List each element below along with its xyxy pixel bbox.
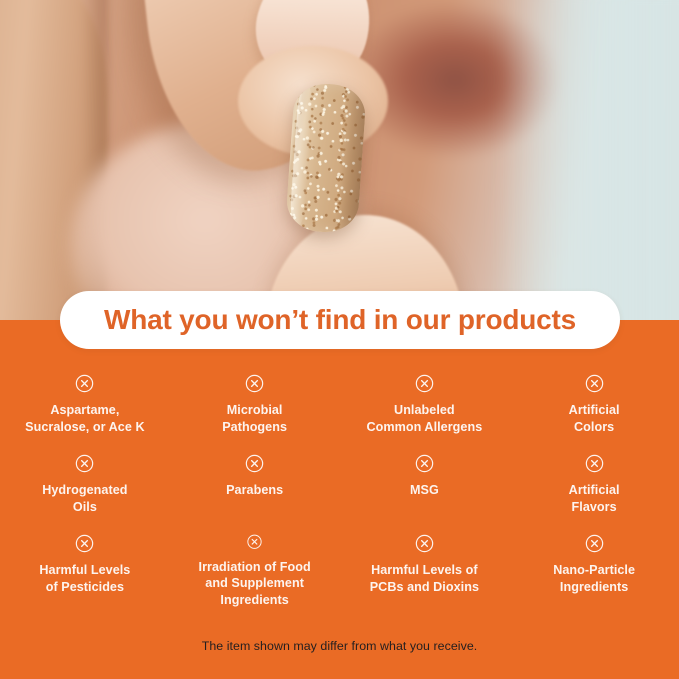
exclusion-item: Harmful Levels of Pesticides	[0, 520, 170, 608]
exclusion-label: Harmful Levels of PCBs and Dioxins	[370, 562, 479, 595]
exclusion-label: Parabens	[226, 482, 283, 499]
circle-x-icon	[245, 374, 264, 393]
circle-x-icon	[585, 534, 604, 553]
circle-x-icon	[245, 454, 264, 473]
exclusion-label: Artificial Flavors	[569, 482, 620, 515]
exclusion-item: Irradiation of Food and Supplement Ingre…	[170, 520, 340, 608]
product-infographic-page: What you won’t find in our products Aspa…	[0, 0, 679, 679]
circle-x-icon	[75, 454, 94, 473]
exclusion-item: Aspartame, Sucralose, or Ace K	[0, 360, 170, 440]
exclusion-grid: Aspartame, Sucralose, or Ace K Microbial…	[0, 360, 679, 608]
headline-banner: What you won’t find in our products	[60, 291, 620, 349]
exclusion-item: MSG	[340, 440, 510, 520]
exclusion-label: Aspartame, Sucralose, or Ace K	[25, 402, 144, 435]
exclusion-label: Microbial Pathogens	[222, 402, 287, 435]
exclusion-label: Harmful Levels of Pesticides	[39, 562, 130, 595]
page-title: What you won’t find in our products	[104, 304, 576, 336]
exclusion-item: Artificial Colors	[509, 360, 679, 440]
hero-photo	[0, 0, 679, 320]
circle-x-icon	[585, 374, 604, 393]
circle-x-icon	[415, 454, 434, 473]
exclusion-item: Unlabeled Common Allergens	[340, 360, 510, 440]
exclusion-label: Artificial Colors	[569, 402, 620, 435]
exclusion-item: Artificial Flavors	[509, 440, 679, 520]
exclusion-label: MSG	[410, 482, 439, 499]
photo-window-light	[499, 0, 679, 320]
circle-x-icon	[585, 454, 604, 473]
title-part-1: What you	[104, 304, 236, 335]
exclusion-item: Hydrogenated Oils	[0, 440, 170, 520]
title-emphasis: won’t	[236, 304, 308, 335]
circle-x-icon	[75, 534, 94, 553]
exclusion-item: Parabens	[170, 440, 340, 520]
disclaimer-text: The item shown may differ from what you …	[0, 639, 679, 653]
exclusion-label: Irradiation of Food and Supplement Ingre…	[199, 559, 311, 609]
circle-x-icon	[415, 374, 434, 393]
exclusion-label: Nano-Particle Ingredients	[553, 562, 635, 595]
exclusion-label: Hydrogenated Oils	[42, 482, 127, 515]
supplement-tablet	[285, 82, 367, 235]
title-part-2: find in our products	[308, 304, 576, 335]
circle-x-icon	[75, 374, 94, 393]
exclusion-item: Harmful Levels of PCBs and Dioxins	[340, 520, 510, 608]
exclusion-label: Unlabeled Common Allergens	[366, 402, 482, 435]
circle-x-icon	[415, 534, 434, 553]
exclusion-item: Microbial Pathogens	[170, 360, 340, 440]
exclusion-item: Nano-Particle Ingredients	[509, 520, 679, 608]
circle-x-icon	[245, 534, 264, 550]
